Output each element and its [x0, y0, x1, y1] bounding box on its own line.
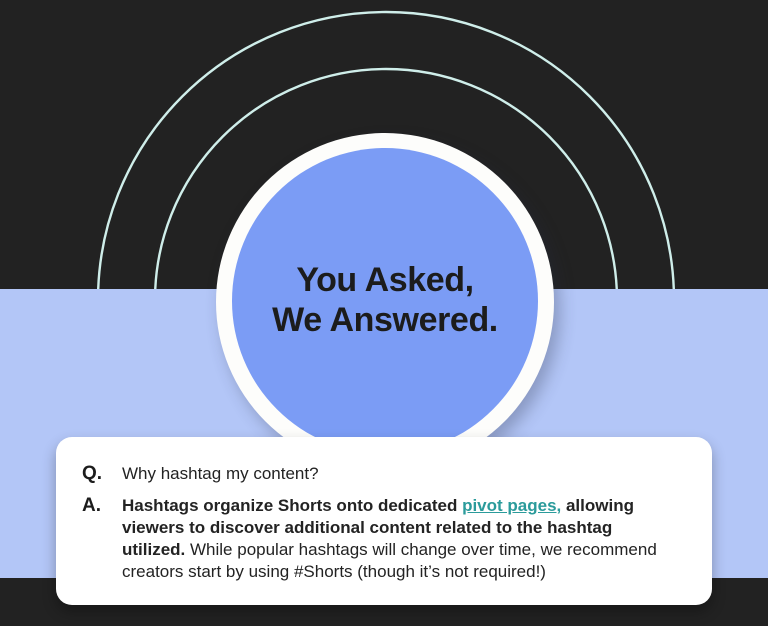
faq-answer-row: A. Hashtags organize Shorts onto dedicat…: [82, 495, 678, 583]
faq-answer-text: Hashtags organize Shorts onto dedicated …: [122, 495, 678, 583]
pivot-pages-link[interactable]: pivot pages,: [462, 496, 561, 515]
faq-graphic: You Asked, We Answered. Q. Why hashtag m…: [0, 0, 768, 626]
answer-lead-before-link: Hashtags organize Shorts onto dedicated: [122, 496, 462, 515]
hero-circle: You Asked, We Answered.: [216, 133, 554, 471]
page-title: You Asked, We Answered.: [272, 260, 498, 342]
answer-marker: A.: [82, 495, 122, 517]
faq-question-row: Q. Why hashtag my content?: [82, 463, 678, 485]
faq-question-text: Why hashtag my content?: [122, 463, 678, 485]
faq-card: Q. Why hashtag my content? A. Hashtags o…: [56, 437, 712, 605]
hero-circle-disc: You Asked, We Answered.: [232, 148, 538, 454]
question-marker: Q.: [82, 463, 122, 485]
answer-secondary-text: While popular hashtags will change over …: [122, 540, 657, 581]
